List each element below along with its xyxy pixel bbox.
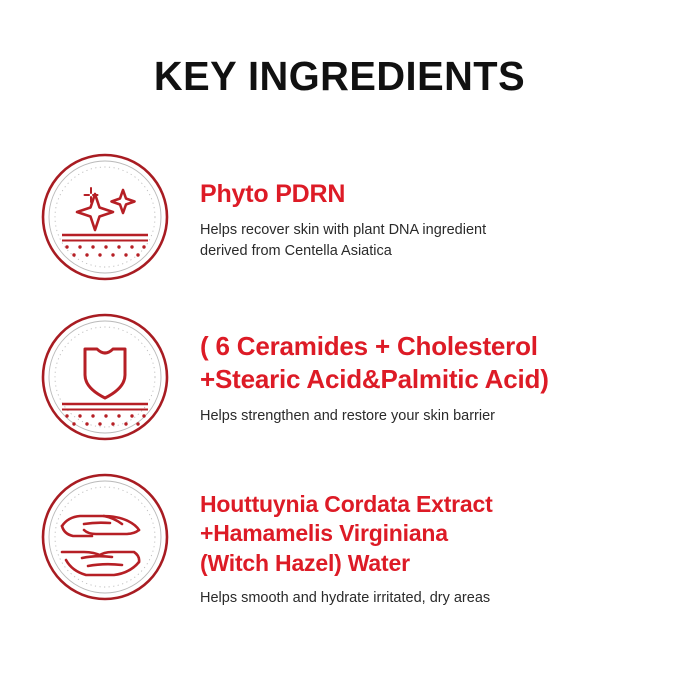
ingredient-text-container: Houttuynia Cordata Extract +Hamamelis Vi… [200,472,679,609]
ingredient-description: Helps smooth and hydrate irritated, dry … [200,588,641,609]
key-ingredients-panel: KEY INGREDIENTS [0,0,679,679]
sparkle-skin-layer-icon [40,152,170,282]
page-title: KEY INGREDIENTS [10,54,669,99]
ingredient-icon-container [0,472,200,602]
ingredient-icon-container [0,152,200,282]
ingredient-title: Phyto PDRN [200,178,641,210]
shield-skin-barrier-icon [40,312,170,442]
ingredient-title: ( 6 Ceramides + Cholesterol +Stearic Aci… [200,330,641,397]
ingredient-description: Helps strengthen and restore your skin b… [200,406,641,427]
ingredient-row: Houttuynia Cordata Extract +Hamamelis Vi… [0,472,679,609]
ingredient-title: Houttuynia Cordata Extract +Hamamelis Vi… [200,490,641,578]
ingredient-text-container: ( 6 Ceramides + Cholesterol +Stearic Aci… [200,312,679,426]
ingredient-icon-container [0,312,200,442]
caring-hands-icon [40,472,170,602]
ingredient-description: Helps recover skin with plant DNA ingred… [200,220,641,261]
ingredient-text-container: Phyto PDRN Helps recover skin with plant… [200,152,679,261]
ingredient-row: Phyto PDRN Helps recover skin with plant… [0,152,679,282]
ingredient-row: ( 6 Ceramides + Cholesterol +Stearic Aci… [0,312,679,442]
